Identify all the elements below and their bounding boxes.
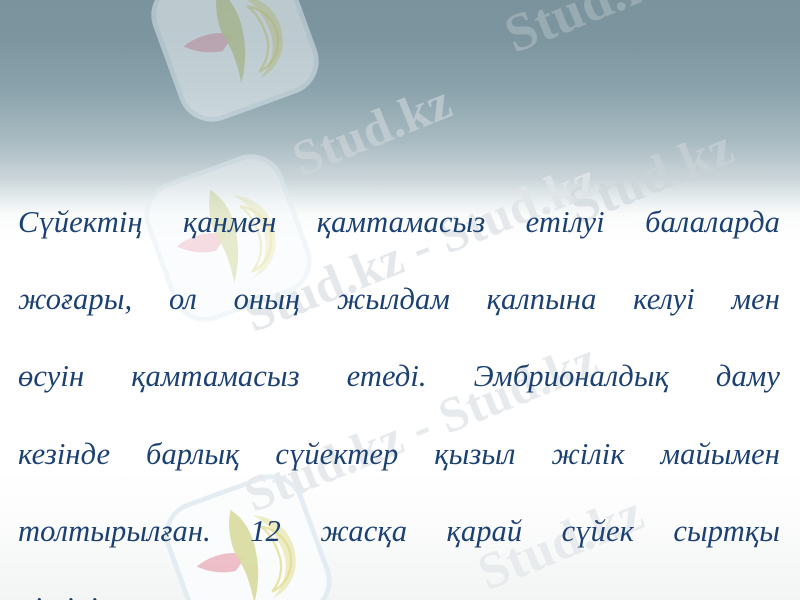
body-line: кезінде барлық сүйектер қызыл жілік майы… <box>18 435 780 512</box>
stud-kz-logo-watermark-top <box>132 0 337 141</box>
body-line: өсуін қамтамасыз етеді. Эмбрионалдық дам… <box>18 357 780 434</box>
body-line: толтырылған. 12 жасқа қарай сүйек сыртқы <box>18 512 780 589</box>
watermark-text-upper-left: Stud.kz <box>284 72 460 188</box>
presentation-slide: Stud.kz Stud.kz Stud.kz Stud.kz - Stud.k… <box>0 0 800 600</box>
body-line: пішіні миен гистологиялық құрылысы ересе… <box>18 589 780 600</box>
hummingbird-logo-icon <box>132 0 337 141</box>
body-line: жоғары, ол оның жылдам қалпына келуі мен <box>18 280 780 357</box>
body-line: Сүйектің қанмен қамтамасыз етілуі балала… <box>18 203 780 280</box>
slide-body-text: Сүйектің қанмен қамтамасыз етілуі балала… <box>18 203 780 600</box>
watermark-text-top-right: Stud.kz <box>496 0 685 65</box>
